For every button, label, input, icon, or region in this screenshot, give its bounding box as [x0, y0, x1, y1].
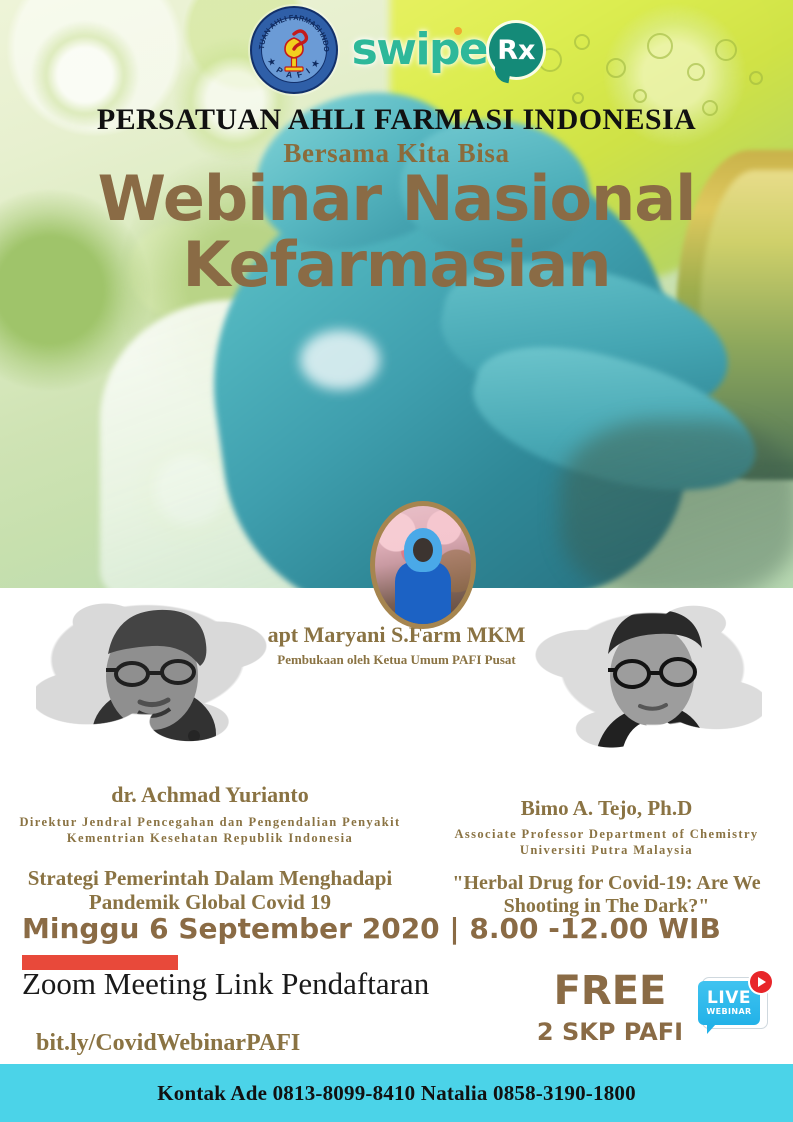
- pafi-logo-emblem: PERSATUAN AHLI FARMASI INDONESIA ★ P A F…: [252, 8, 336, 92]
- speaker-affiliation-left: Direktur Jendral Pencegahan dan Pengenda…: [0, 814, 420, 846]
- contact-text: Kontak Ade 0813-8099-8410 Natalia 0858-3…: [157, 1081, 636, 1106]
- credits-badge: 2 SKP PAFI: [530, 1018, 690, 1046]
- registration-label: Zoom Meeting Link Pendaftaran: [22, 966, 582, 1002]
- speaker-topic-left: Strategi Pemerintah Dalam Menghadapi Pan…: [0, 866, 420, 915]
- glove-highlight: [300, 330, 380, 390]
- speaker-photo-left: [36, 584, 268, 756]
- speaker-portrait-bimo-tejo: [534, 588, 762, 764]
- registration-link[interactable]: bit.ly/CovidWebinarPAFI: [36, 1030, 300, 1057]
- page-title: Webinar Nasional Kefarmasian: [0, 168, 793, 296]
- host-avatar: [370, 501, 476, 629]
- speaker-name-right: Bimo A. Tejo, Ph.D: [420, 796, 793, 821]
- swiperx-wordmark: swipe: [352, 28, 488, 72]
- speaker-portrait-achmad-yurianto: [36, 584, 268, 756]
- live-badge-webinar-label: WEBINAR: [706, 1008, 751, 1016]
- price-badge: FREE: [530, 968, 690, 1014]
- pafi-logo-icon: PERSATUAN AHLI FARMASI INDONESIA ★ P A F…: [250, 6, 338, 94]
- title-line-2: Kefarmasian: [0, 234, 793, 296]
- event-datetime: Minggu 6 September 2020 | 8.00 -12.00 WI…: [22, 912, 782, 945]
- logo-row: PERSATUAN AHLI FARMASI INDONESIA ★ P A F…: [0, 4, 793, 96]
- rx-speech-bubble-icon: Rx: [489, 23, 543, 77]
- title-line-1: Webinar Nasional: [98, 162, 696, 235]
- webinar-poster: PERSATUAN AHLI FARMASI INDONESIA ★ P A F…: [0, 0, 793, 1122]
- live-webinar-badge-icon: LIVE WEBINAR: [698, 975, 770, 1037]
- swiperx-logo: swipe Rx: [352, 23, 544, 77]
- host-avatar-face: [413, 538, 433, 562]
- contact-footer: Kontak Ade 0813-8099-8410 Natalia 0858-3…: [0, 1064, 793, 1122]
- play-button-icon: [750, 971, 772, 993]
- speaker-name-left: dr. Achmad Yurianto: [0, 782, 420, 808]
- speaker-affiliation-right: Associate Professor Department of Chemis…: [420, 826, 793, 858]
- background-shadow: [560, 420, 793, 600]
- speaker-photo-right: [534, 588, 762, 764]
- live-badge-live-label: LIVE: [707, 990, 751, 1007]
- organization-name: PERSATUAN AHLI FARMASI INDONESIA: [0, 103, 793, 137]
